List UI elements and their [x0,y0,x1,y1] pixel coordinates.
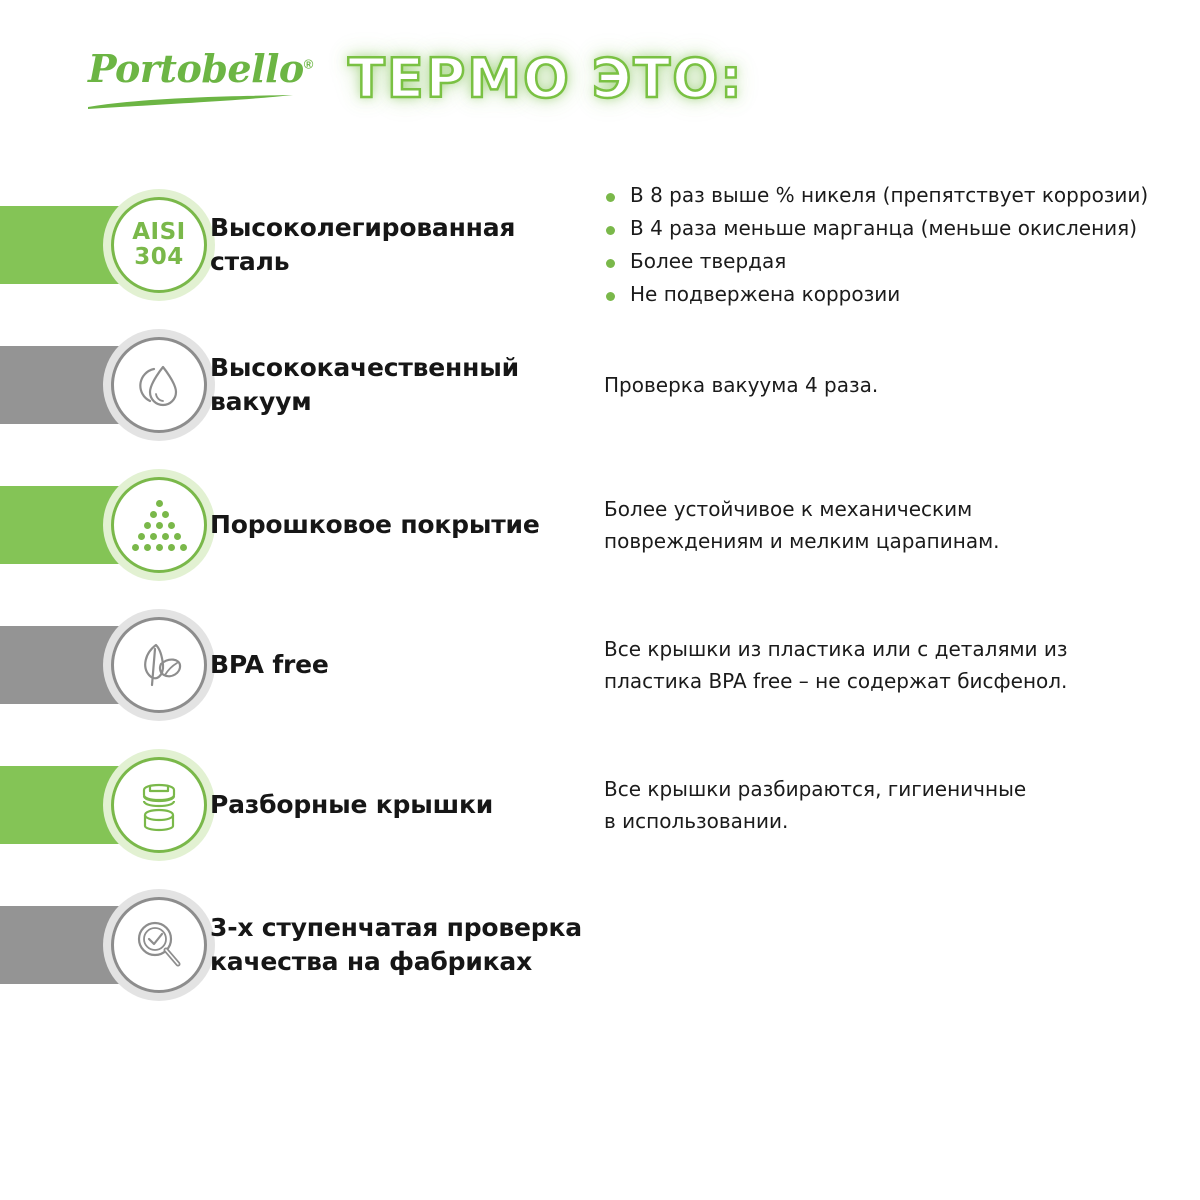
feature-title: BPA free [210,648,590,682]
powder-dots-glyph [128,501,190,549]
dot [156,522,163,529]
dot [156,500,163,507]
feature-row-detachable-lids: Разборные крышки Все крышки разбираются,… [0,735,1200,875]
badge-text: AISI 304 [132,220,185,270]
description-line: пластика BPA free – не содержат бисфенол… [604,665,1194,697]
feature-list: AISI 304 Высоколегированная сталь В 8 ра… [0,175,1200,1015]
dot [144,522,151,529]
feature-description: В 8 раз выше % никеля (препятствует корр… [604,179,1194,311]
magnifier-check-glyph [129,915,189,975]
description-line: Все крышки разбираются, гигиеничные [604,773,1194,805]
aisi-304-badge-icon: AISI 304 [111,197,207,293]
feature-badge [103,749,215,861]
dot-row [150,511,169,518]
dot [144,544,151,551]
portobello-logo: Portobello® [88,50,303,120]
feature-row-powder-coating: Порошковое покрытие Более устойчивое к м… [0,455,1200,595]
feature-title: Разборные крышки [210,788,590,822]
feature-badge: AISI 304 [103,189,215,301]
badge-line-1: AISI [132,220,185,245]
dot [156,544,163,551]
feature-row-steel: AISI 304 Высоколегированная сталь В 8 ра… [0,175,1200,315]
feature-row-bpa-free: BPA free Все крышки из пластика или с де… [0,595,1200,735]
dot [138,533,145,540]
dot [168,544,175,551]
dot-row [138,533,181,540]
list-item: В 8 раз выше % никеля (препятствует корр… [604,179,1194,212]
logo-text: Portobello [88,46,304,91]
list-item: В 4 раза меньше марганца (меньше окислен… [604,212,1194,245]
dot [180,544,187,551]
dot-row [144,522,175,529]
feature-title: Высоколегированная сталь [210,211,590,279]
feature-title: Высококачественный вакуум [210,351,590,419]
leaves-glyph [129,635,189,695]
feature-badge [103,329,215,441]
feature-description: Более устойчивое к механическим поврежде… [604,493,1194,557]
feature-description: Все крышки из пластика или с деталями из… [604,633,1194,697]
detachable-lid-icon [111,757,207,853]
logo-swoosh-icon [88,95,293,109]
page-title: ТЕРМО ЭТО: [348,48,744,110]
badge-line-2: 304 [132,245,185,270]
description-line: Проверка вакуума 4 раза. [604,369,1194,401]
feature-badge [103,609,215,721]
feature-description: Проверка вакуума 4 раза. [604,369,1194,401]
feature-title: 3-х ступенчатая проверка качества на фаб… [210,911,590,979]
dot [132,544,139,551]
dot [168,522,175,529]
description-line: повреждениям и мелким царапинам. [604,525,1194,557]
dot [174,533,181,540]
feature-badge [103,889,215,1001]
description-line: в использовании. [604,805,1194,837]
dot [150,511,157,518]
benefit-list: В 8 раз выше % никеля (препятствует корр… [604,179,1194,311]
page-header: Portobello® ТЕРМО ЭТО: [0,0,1200,165]
list-item: Не подвержена коррозии [604,278,1194,311]
dot-row [156,500,163,507]
feature-row-vacuum: Высококачественный вакуум Проверка вакуу… [0,315,1200,455]
dot [150,533,157,540]
dot [162,533,169,540]
leaves-icon [111,617,207,713]
water-drop-icon [111,337,207,433]
feature-row-quality-check: 3-х ступенчатая проверка качества на фаб… [0,875,1200,1015]
detachable-lid-glyph [128,774,190,836]
description-line: Все крышки из пластика или с деталями из [604,633,1194,665]
feature-badge [103,469,215,581]
water-drop-glyph [130,356,188,414]
feature-description: Все крышки разбираются, гигиеничные в ис… [604,773,1194,837]
logo-wordmark: Portobello® [88,50,303,88]
powder-dots-icon [111,477,207,573]
magnifier-check-icon [111,897,207,993]
dot-row [132,544,187,551]
dot [162,511,169,518]
description-line: Более устойчивое к механическим [604,493,1194,525]
registered-trademark-icon: ® [304,56,314,71]
list-item: Более твердая [604,245,1194,278]
feature-title: Порошковое покрытие [210,508,590,542]
